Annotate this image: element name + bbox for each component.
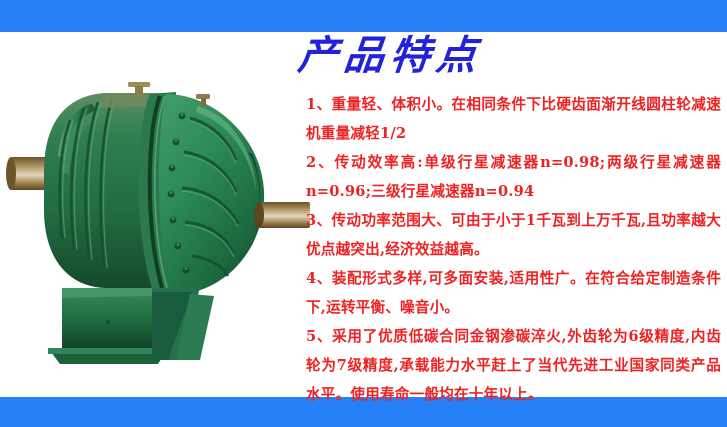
feature-item-3: 3、传动功率范围大、可由于小于1千瓦到上万千瓦,且功率越大优点越突出,经济效益越…: [296, 206, 721, 264]
mounting-base: [48, 288, 214, 364]
product-image: [0, 60, 312, 365]
gear-reducer-illustration: [0, 60, 312, 365]
page-title: 产品特点: [296, 36, 725, 76]
feature-item-2: 2、传动效率高:单级行星减速器n=0.98;两级行星减速器n=0.96;三级行星…: [296, 148, 721, 206]
text-column: 产品特点 1、重量轻、体积小。在相同条件下比硬齿面渐开线圆柱轮减速机重量减轻1/…: [296, 30, 721, 395]
product-feature-banner: 产品特点 1、重量轻、体积小。在相同条件下比硬齿面渐开线圆柱轮减速机重量减轻1/…: [0, 0, 727, 427]
feature-list: 1、重量轻、体积小。在相同条件下比硬齿面渐开线圆柱轮减速机重量减轻1/2 2、传…: [296, 90, 721, 409]
top-accent-bar: [0, 0, 727, 32]
feature-item-1: 1、重量轻、体积小。在相同条件下比硬齿面渐开线圆柱轮减速机重量减轻1/2: [296, 90, 721, 148]
feature-item-4: 4、装配形式多样,可多面安装,适用性广。在符合给定制造条件下,运转平衡、噪音小。: [296, 264, 721, 322]
planetary-housing: [159, 94, 264, 294]
feature-item-5: 5、采用了优质低碳合同金钢渗碳淬火,外齿轮为6级精度,内齿轮为7级精度,承载能力…: [296, 322, 721, 409]
